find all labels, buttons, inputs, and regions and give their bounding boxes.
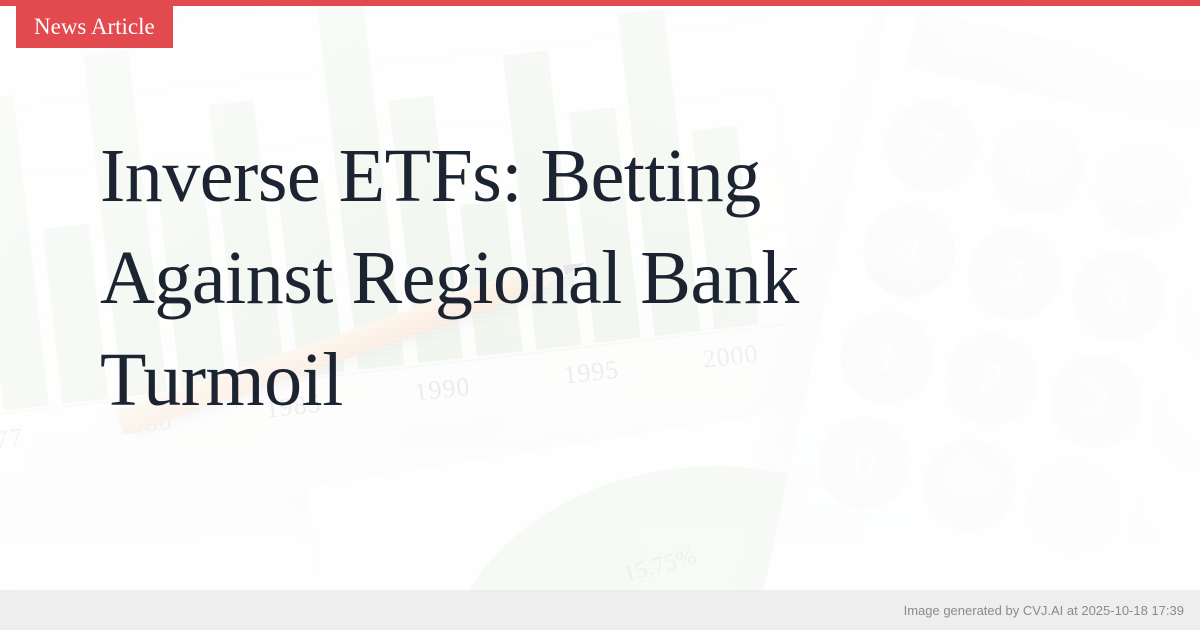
footer-attribution: Image generated by CVJ.AI at 2025-10-18 … [904, 603, 1200, 618]
calculator-key: 6 [1064, 241, 1173, 350]
footer-bar: Image generated by CVJ.AI at 2025-10-18 … [0, 590, 1200, 630]
calculator-key: 3 [1042, 347, 1151, 456]
poster-canvas: 1977 1980 1985 1990 1995 2000 2020108.02… [0, 0, 1200, 630]
calculator-key: × [1169, 264, 1200, 373]
calculator-function-key: % [1150, 78, 1174, 106]
bar-chart-bar [43, 224, 108, 404]
calculator-key: ÷ [1191, 158, 1200, 267]
calculator-key: 2 [937, 325, 1046, 434]
page-title: Inverse ETFs: Betting Against Regional B… [100, 125, 930, 431]
calculator-key: = [1019, 453, 1128, 562]
calculator-function-key: CE [1048, 56, 1083, 86]
chart-year-label: 1977 [0, 422, 25, 458]
calculator-key: 9 [1087, 136, 1196, 245]
calculator-function-key: ON [945, 34, 983, 64]
news-article-badge: News Article [16, 6, 173, 48]
badge-label: News Article [34, 14, 155, 40]
calculator-key: 5 [959, 219, 1068, 328]
calculator-key: . [914, 431, 1023, 540]
top-accent-rule [0, 0, 1200, 6]
calculator-key: + [1124, 475, 1200, 584]
bar-chart-bar [0, 95, 49, 410]
calculator-key: 8 [982, 114, 1091, 223]
calculator-key: − [1146, 369, 1200, 478]
